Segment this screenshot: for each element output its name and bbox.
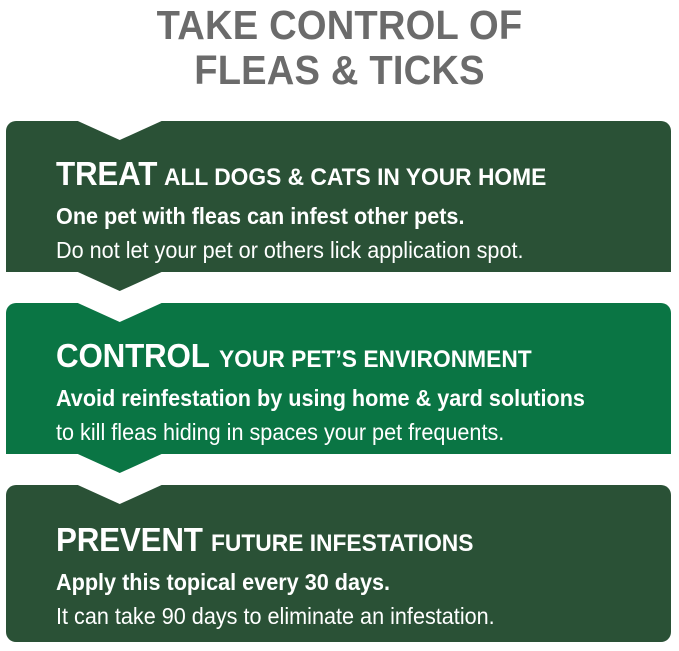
step-keyword-treat: TREAT [56, 157, 157, 191]
step-detail-regular-control: to kill fleas hiding in spaces your pet … [56, 415, 617, 449]
step-panel-treat: TREATALL DOGS & CATS IN YOUR HOME One pe… [6, 121, 671, 291]
page-title: TAKE CONTROL OF FLEAS & TICKS [0, 3, 679, 93]
step-keyword-prevent: PREVENT [56, 523, 203, 557]
step-headline-rest-treat: ALL DOGS & CATS IN YOUR HOME [164, 161, 546, 195]
step-detail-regular-prevent: It can take 90 days to eliminate an infe… [56, 599, 617, 633]
step-headline-prevent: PREVENTFUTURE INFESTATIONS [56, 523, 653, 564]
step-detail-bold-treat: One pet with fleas can infest other pets… [56, 200, 617, 233]
step-detail-bold-control: Avoid reinfestation by using home & yard… [56, 382, 617, 415]
step-panel-control: CONTROLYOUR PET’S ENVIRONMENT Avoid rein… [6, 303, 671, 473]
step-headline-treat: TREATALL DOGS & CATS IN YOUR HOME [56, 157, 653, 198]
step-headline-rest-prevent: FUTURE INFESTATIONS [211, 527, 473, 561]
step-panel-prevent-content: PREVENTFUTURE INFESTATIONS Apply this to… [56, 523, 653, 633]
step-panel-treat-content: TREATALL DOGS & CATS IN YOUR HOME One pe… [56, 157, 653, 267]
step-panel-control-content: CONTROLYOUR PET’S ENVIRONMENT Avoid rein… [56, 339, 653, 449]
step-detail-regular-treat: Do not let your pet or others lick appli… [56, 233, 617, 267]
flea-tick-infographic: TAKE CONTROL OF FLEAS & TICKS TREATALL D… [0, 0, 679, 651]
step-detail-bold-prevent: Apply this topical every 30 days. [56, 566, 617, 599]
step-panel-prevent: PREVENTFUTURE INFESTATIONS Apply this to… [6, 485, 671, 642]
step-keyword-control: CONTROL [56, 339, 210, 373]
page-title-line-1: TAKE CONTROL OF [24, 3, 655, 48]
step-headline-control: CONTROLYOUR PET’S ENVIRONMENT [56, 339, 653, 380]
page-title-line-2: FLEAS & TICKS [24, 48, 655, 93]
step-headline-rest-control: YOUR PET’S ENVIRONMENT [219, 343, 532, 377]
